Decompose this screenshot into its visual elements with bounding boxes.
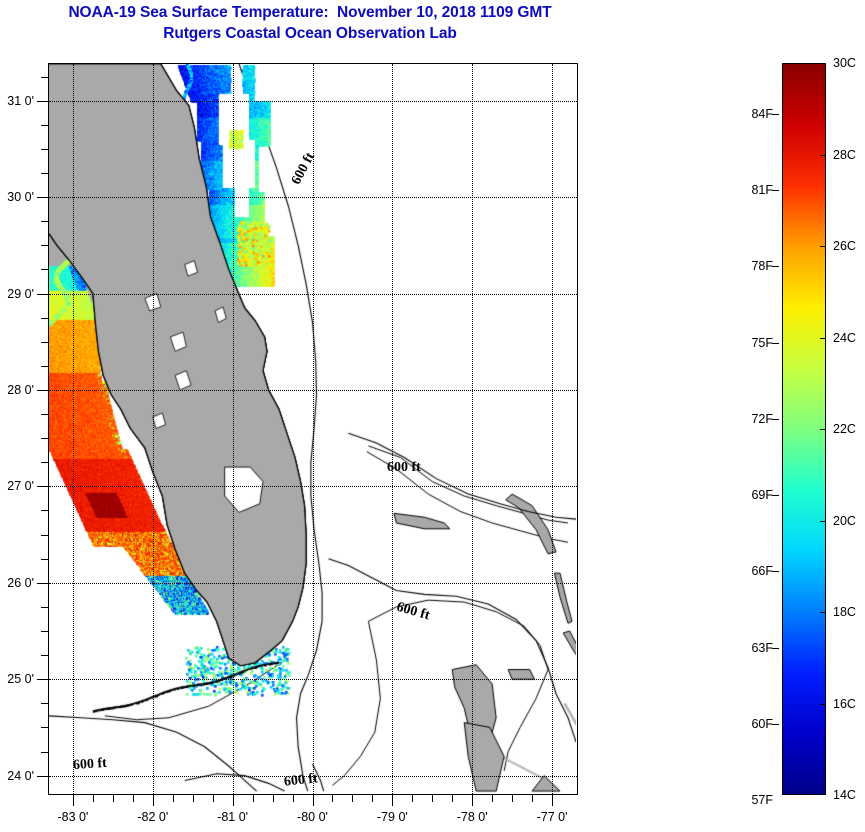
colorbar-label-celsius: 24C: [833, 331, 856, 345]
axis-tick-x-minor: [432, 795, 433, 802]
gridline-latitude: [49, 390, 577, 391]
axis-tick-y-minor: [41, 727, 48, 728]
axis-tick-x-minor: [273, 795, 274, 802]
gridline-longitude: [392, 64, 393, 794]
axis-label-latitude: 27 0': [7, 479, 34, 493]
gridline-latitude: [49, 486, 577, 487]
axis-tick-x-major: [472, 795, 473, 806]
colorbar-label-fahrenheit: 81F: [751, 183, 773, 197]
axis-tick-y-minor: [41, 414, 48, 415]
colorbar-label-fahrenheit: 84F: [751, 107, 773, 121]
colorbar-tick-fahrenheit: [772, 648, 779, 649]
axis-tick-x-major: [73, 795, 74, 806]
axis-label-latitude: 25 0': [7, 672, 34, 686]
axis-tick-y-minor: [41, 269, 48, 270]
colorbar-tick-fahrenheit: [772, 266, 779, 267]
colorbar-label-fahrenheit: 63F: [751, 641, 773, 655]
gridline-longitude: [73, 64, 74, 794]
axis-tick-y-minor: [41, 510, 48, 511]
axis-tick-x-minor: [93, 795, 94, 802]
axis-tick-x-minor: [412, 795, 413, 802]
colorbar-label-fahrenheit: 72F: [751, 412, 773, 426]
axis-tick-y-major: [37, 679, 48, 680]
colorbar-label-fahrenheit: 60F: [751, 717, 773, 731]
axis-tick-x-minor: [173, 795, 174, 802]
colorbar-label-celsius: 18C: [833, 605, 856, 619]
axis-tick-y-minor: [41, 366, 48, 367]
axis-tick-y-minor: [41, 462, 48, 463]
colorbar-label-celsius: 26C: [833, 239, 856, 253]
axis-tick-y-minor: [41, 655, 48, 656]
colorbar-tick-fahrenheit: [772, 114, 779, 115]
axis-tick-y-major: [37, 294, 48, 295]
colorbar-tick-fahrenheit: [772, 343, 779, 344]
axis-tick-x-minor: [113, 795, 114, 802]
colorbar-label-fahrenheit: 78F: [751, 259, 773, 273]
axis-label-longitude: -79 0': [377, 810, 408, 824]
axis-tick-y-minor: [41, 535, 48, 536]
axis-tick-y-minor: [41, 149, 48, 150]
axis-tick-y-minor: [41, 752, 48, 753]
colorbar-tick-celsius: [820, 521, 826, 522]
contour-label-600ft: 600 ft: [72, 756, 107, 774]
colorbar-tick-celsius: [820, 612, 826, 613]
axis-tick-x-major: [153, 795, 154, 806]
colorbar-label-celsius: 20C: [833, 514, 856, 528]
axis-tick-y-minor: [41, 77, 48, 78]
contour-label-600ft: 600 ft: [387, 460, 421, 476]
colorbar-tick-celsius: [820, 155, 826, 156]
axis-tick-x-minor: [352, 795, 353, 802]
axis-tick-y-minor: [41, 607, 48, 608]
axis-tick-x-major: [552, 795, 553, 806]
axis-label-latitude: 26 0': [7, 576, 34, 590]
title-line-2: Rutgers Coastal Ocean Observation Lab: [0, 23, 620, 44]
gridline-longitude: [552, 64, 553, 794]
axis-tick-x-minor: [332, 795, 333, 802]
axis-tick-y-minor: [41, 318, 48, 319]
axis-tick-x-minor: [452, 795, 453, 802]
axis-tick-y-major: [37, 776, 48, 777]
axis-tick-y-major: [37, 390, 48, 391]
colorbar-label-celsius: 30C: [833, 56, 856, 70]
axis-tick-x-major: [233, 795, 234, 806]
axis-label-longitude: -80 0': [297, 810, 328, 824]
axis-tick-y-minor: [41, 703, 48, 704]
colorbar-label-celsius: 22C: [833, 422, 856, 436]
axis-label-longitude: -77 0': [537, 810, 568, 824]
colorbar-tick-celsius: [820, 338, 826, 339]
axis-tick-y-minor: [41, 631, 48, 632]
colorbar-label-fahrenheit: 69F: [751, 488, 773, 502]
colorbar-tick-fahrenheit: [772, 190, 779, 191]
axis-tick-x-minor: [492, 795, 493, 802]
axis-label-latitude: 28 0': [7, 383, 34, 397]
gridline-longitude: [233, 64, 234, 794]
axis-label-latitude: 30 0': [7, 190, 34, 204]
axis-tick-y-major: [37, 583, 48, 584]
map-plot-area: 600 ft600 ft600 ft600 ft600 ft: [48, 63, 578, 795]
colorbar-label-fahrenheit: 66F: [751, 564, 773, 578]
colorbar-tick-fahrenheit: [772, 495, 779, 496]
colorbar-tick-fahrenheit: [772, 419, 779, 420]
title-line-1: NOAA-19 Sea Surface Temperature: Novembe…: [0, 2, 620, 23]
axis-label-longitude: -83 0': [58, 810, 89, 824]
axis-tick-y-major: [37, 486, 48, 487]
axis-tick-x-major: [313, 795, 314, 806]
colorbar-tick-celsius: [820, 246, 826, 247]
colorbar-tick-celsius: [820, 704, 826, 705]
axis-tick-x-minor: [293, 795, 294, 802]
axis-tick-x-major: [392, 795, 393, 806]
axis-label-latitude: 31 0': [7, 94, 34, 108]
axis-tick-x-minor: [532, 795, 533, 802]
axis-tick-y-major: [37, 197, 48, 198]
axis-label-latitude: 29 0': [7, 287, 34, 301]
sst-map-figure: NOAA-19 Sea Surface Temperature: Novembe…: [0, 0, 865, 832]
axis-label-longitude: -81 0': [217, 810, 248, 824]
colorbar-label-celsius: 16C: [833, 697, 856, 711]
gridline-latitude: [49, 101, 577, 102]
axis-label-longitude: -82 0': [137, 810, 168, 824]
gridline-longitude: [153, 64, 154, 794]
axis-tick-y-major: [37, 101, 48, 102]
gridline-latitude: [49, 294, 577, 295]
colorbar-tick-fahrenheit: [772, 724, 779, 725]
gridline-latitude: [49, 679, 577, 680]
gridline-longitude: [472, 64, 473, 794]
axis-tick-y-minor: [41, 221, 48, 222]
axis-tick-y-minor: [41, 559, 48, 560]
axis-label-longitude: -78 0': [457, 810, 488, 824]
axis-tick-x-minor: [372, 795, 373, 802]
axis-tick-y-minor: [41, 245, 48, 246]
axis-tick-x-minor: [253, 795, 254, 802]
figure-title: NOAA-19 Sea Surface Temperature: Novembe…: [0, 2, 620, 44]
axis-tick-x-minor: [193, 795, 194, 802]
axis-tick-x-minor: [512, 795, 513, 802]
colorbar-label-celsius: 28C: [833, 148, 856, 162]
colorbar-label-fahrenheit: 57F: [751, 793, 773, 807]
axis-tick-x-minor: [213, 795, 214, 802]
axis-tick-y-minor: [41, 342, 48, 343]
colorbar-label-fahrenheit: 75F: [751, 336, 773, 350]
colorbar-tick-celsius: [820, 429, 826, 430]
colorbar-label-celsius: 14C: [833, 788, 856, 802]
axis-tick-y-minor: [41, 438, 48, 439]
gridline-latitude: [49, 583, 577, 584]
axis-tick-y-minor: [41, 125, 48, 126]
axis-tick-x-minor: [133, 795, 134, 802]
axis-label-latitude: 24 0': [7, 769, 34, 783]
gridline-longitude: [313, 64, 314, 794]
axis-tick-y-minor: [41, 173, 48, 174]
colorbar-tick-fahrenheit: [772, 571, 779, 572]
gridline-latitude: [49, 197, 577, 198]
